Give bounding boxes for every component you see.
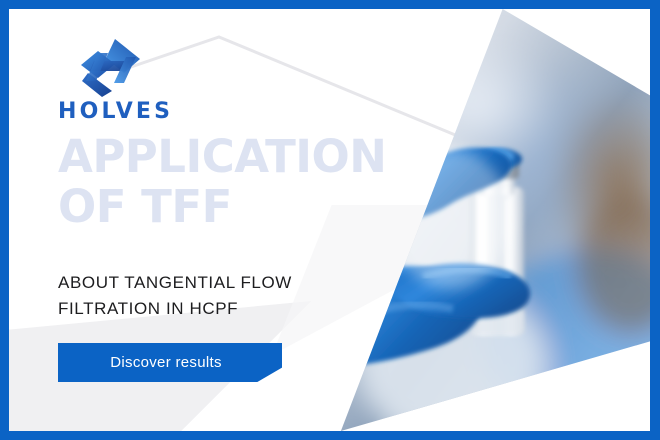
discover-results-label: Discover results xyxy=(110,354,222,371)
holves-diamond-h-icon xyxy=(68,37,154,99)
discover-results-button[interactable]: Discover results xyxy=(58,343,282,382)
promotional-banner: HOLVES APPLICATION OF TFF ABOUT TANGENTI… xyxy=(0,0,660,440)
frame-border-right xyxy=(650,0,660,440)
hero-subheadline: ABOUT TANGENTIAL FLOW FILTRATION IN HCPF xyxy=(58,270,292,322)
banner-stage: HOLVES APPLICATION OF TFF ABOUT TANGENTI… xyxy=(9,9,650,431)
frame-border-bottom xyxy=(0,431,660,440)
brand-logo[interactable]: HOLVES xyxy=(58,37,173,123)
brand-wordmark: HOLVES xyxy=(58,101,173,123)
hero-headline: APPLICATION OF TFF xyxy=(58,132,386,232)
frame-border-left xyxy=(0,0,9,440)
frame-border-top xyxy=(0,0,660,9)
